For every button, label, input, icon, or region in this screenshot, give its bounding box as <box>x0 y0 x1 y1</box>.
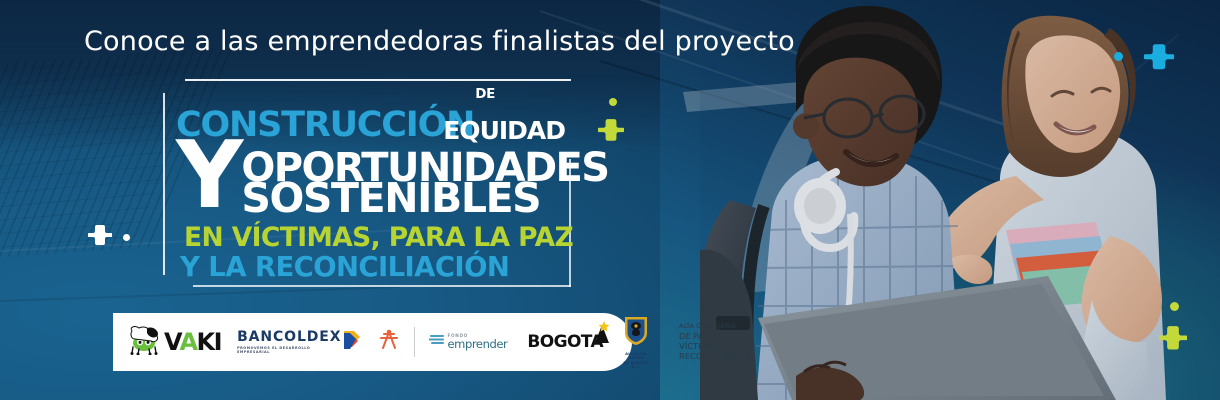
title-line-4: EN VÍCTIMAS, PARA LA PAZ <box>184 222 576 253</box>
title-equidad: EQUIDAD <box>443 118 565 143</box>
bancoldex-flag-icon <box>344 331 360 354</box>
sena-logo-icon <box>378 329 400 356</box>
logo-bancoldex[interactable]: BANCOLDEX PROMOVEMOS EL DESARROLLO EMPRE… <box>237 330 360 354</box>
title-line-2: Y OPORTUNIDADES SOSTENIBLES <box>176 141 576 217</box>
title-line-5: Y LA RECONCILIACIÓN <box>180 251 576 283</box>
alcaldia-caption: ALCALDÍA MAYOR DE BOGOTÁ D.C. <box>623 352 649 370</box>
bogota-star-icon <box>592 321 612 348</box>
white-dot-icon <box>123 234 130 241</box>
lime-cross-icon <box>1159 325 1187 353</box>
white-cross-icon <box>88 224 112 248</box>
emprender-wordmark: emprender <box>447 339 507 351</box>
cow-logo-icon <box>127 325 161 360</box>
cyan-dot-icon <box>1114 52 1123 61</box>
lime-cross-icon <box>598 118 624 144</box>
bancoldex-wordmark: BANCOLDEX <box>237 330 341 344</box>
vaki-wordmark: VAKI <box>164 328 221 356</box>
lime-dot-icon <box>1170 302 1179 311</box>
student-photo <box>700 0 1220 400</box>
kicker-text: Conoce a las emprendedoras finalistas de… <box>84 26 795 57</box>
logo-divider <box>414 327 415 357</box>
logo-alta-consejeria[interactable]: ALTA CONSEJERÍA DE PAZ, VÍCTIMAS Y RECON… <box>679 323 751 360</box>
bancoldex-tagline: PROMOVEMOS EL DESARROLLO EMPRESARIAL <box>237 347 341 354</box>
alta-consejeria-line-2: DE PAZ, VÍCTIMAS Y <box>679 331 751 351</box>
logo-alcaldia-bogota[interactable]: ALCALDÍA MAYOR DE BOGOTÁ D.C. <box>623 315 649 370</box>
cyan-cross-icon <box>1144 43 1174 73</box>
lime-dot-icon <box>609 98 617 106</box>
alta-consejeria-line-1: ALTA CONSEJERÍA <box>679 323 751 330</box>
title-de: DE <box>475 88 495 102</box>
sponsor-logo-bar: VAKI BANCOLDEX PROMOVEMOS EL DESARROLLO … <box>113 313 632 371</box>
logo-vaki[interactable]: VAKI <box>127 325 221 360</box>
title-sostenibles: SOSTENIBLES <box>241 181 608 216</box>
alta-consejeria-line-3: RECONCILIACIÓN <box>679 351 751 361</box>
bogota-coat-of-arms-icon <box>623 315 649 350</box>
title-y: Y <box>176 136 239 216</box>
fondo-emprender-icon <box>429 333 445 352</box>
title-block: CONSTRUCCIÓN DE EQUIDAD Y OPORTUNIDADES … <box>176 88 576 283</box>
logo-sena-fondo-emprender[interactable]: FONDO emprender <box>378 327 507 357</box>
logo-bogota[interactable]: BOGOTA <box>527 332 603 352</box>
promo-banner: Conoce a las emprendedoras finalistas de… <box>0 0 1220 400</box>
